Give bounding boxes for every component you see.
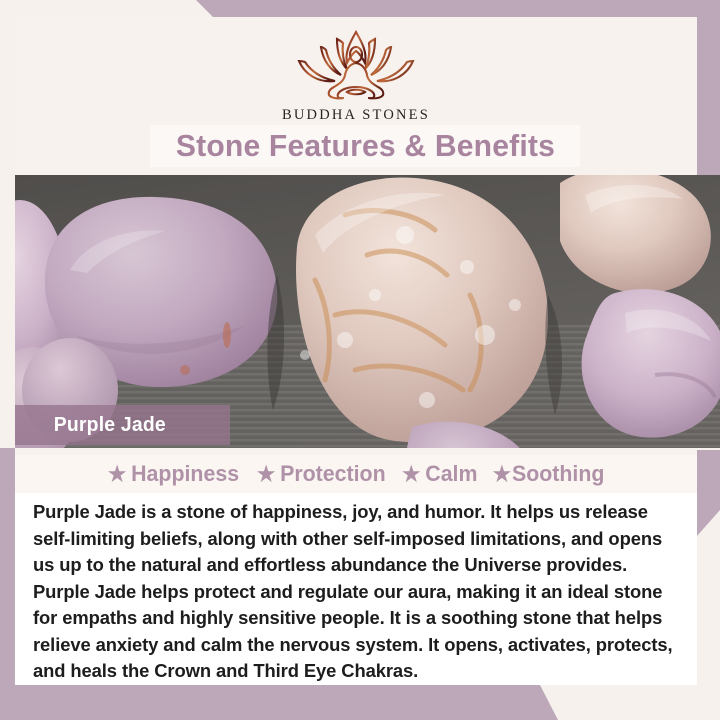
benefits-row: ★ Happiness ★ Protection ★ Calm ★ Soothi…: [15, 455, 697, 493]
star-icon: ★: [403, 464, 421, 485]
benefit-item-calm: ★ Calm: [403, 461, 478, 487]
stone-name: Purple Jade: [54, 414, 166, 437]
brand-logo: BUDDHA STONES: [281, 27, 431, 124]
benefit-label: Happiness: [131, 461, 239, 487]
title-banner: Stone Features & Benefits: [150, 125, 580, 167]
lotus-meditation-logo-icon: [281, 27, 431, 105]
left-accent-bar: [0, 448, 15, 720]
description-paragraph-2: Purple Jade helps protect and regulate o…: [15, 579, 697, 685]
right-top-accent-bar: [697, 0, 720, 180]
star-icon: ★: [257, 464, 275, 485]
top-accent-bar: [0, 0, 720, 17]
infographic-page: BUDDHA STONES Stone Features & Benefits: [0, 0, 720, 720]
benefit-label: Protection: [280, 461, 386, 487]
right-middle-accent-bar: [697, 450, 720, 536]
benefit-item-happiness: ★ Happiness: [108, 461, 239, 487]
benefit-item-soothing: ★ Soothing: [493, 461, 605, 487]
benefit-label: Soothing: [512, 461, 604, 487]
star-icon: ★: [493, 464, 511, 485]
benefit-label: Calm: [426, 461, 478, 487]
benefit-item-protection: ★ Protection: [257, 461, 386, 487]
stone-caption-banner: Purple Jade: [15, 405, 230, 445]
brand-name: BUDDHA STONES: [282, 107, 430, 124]
bottom-accent-bar: [0, 685, 720, 720]
star-icon: ★: [108, 464, 126, 485]
page-title: Stone Features & Benefits: [175, 128, 554, 164]
description-block: Purple Jade is a stone of happiness, joy…: [15, 493, 697, 685]
description-paragraph-1: Purple Jade is a stone of happiness, joy…: [15, 493, 697, 579]
